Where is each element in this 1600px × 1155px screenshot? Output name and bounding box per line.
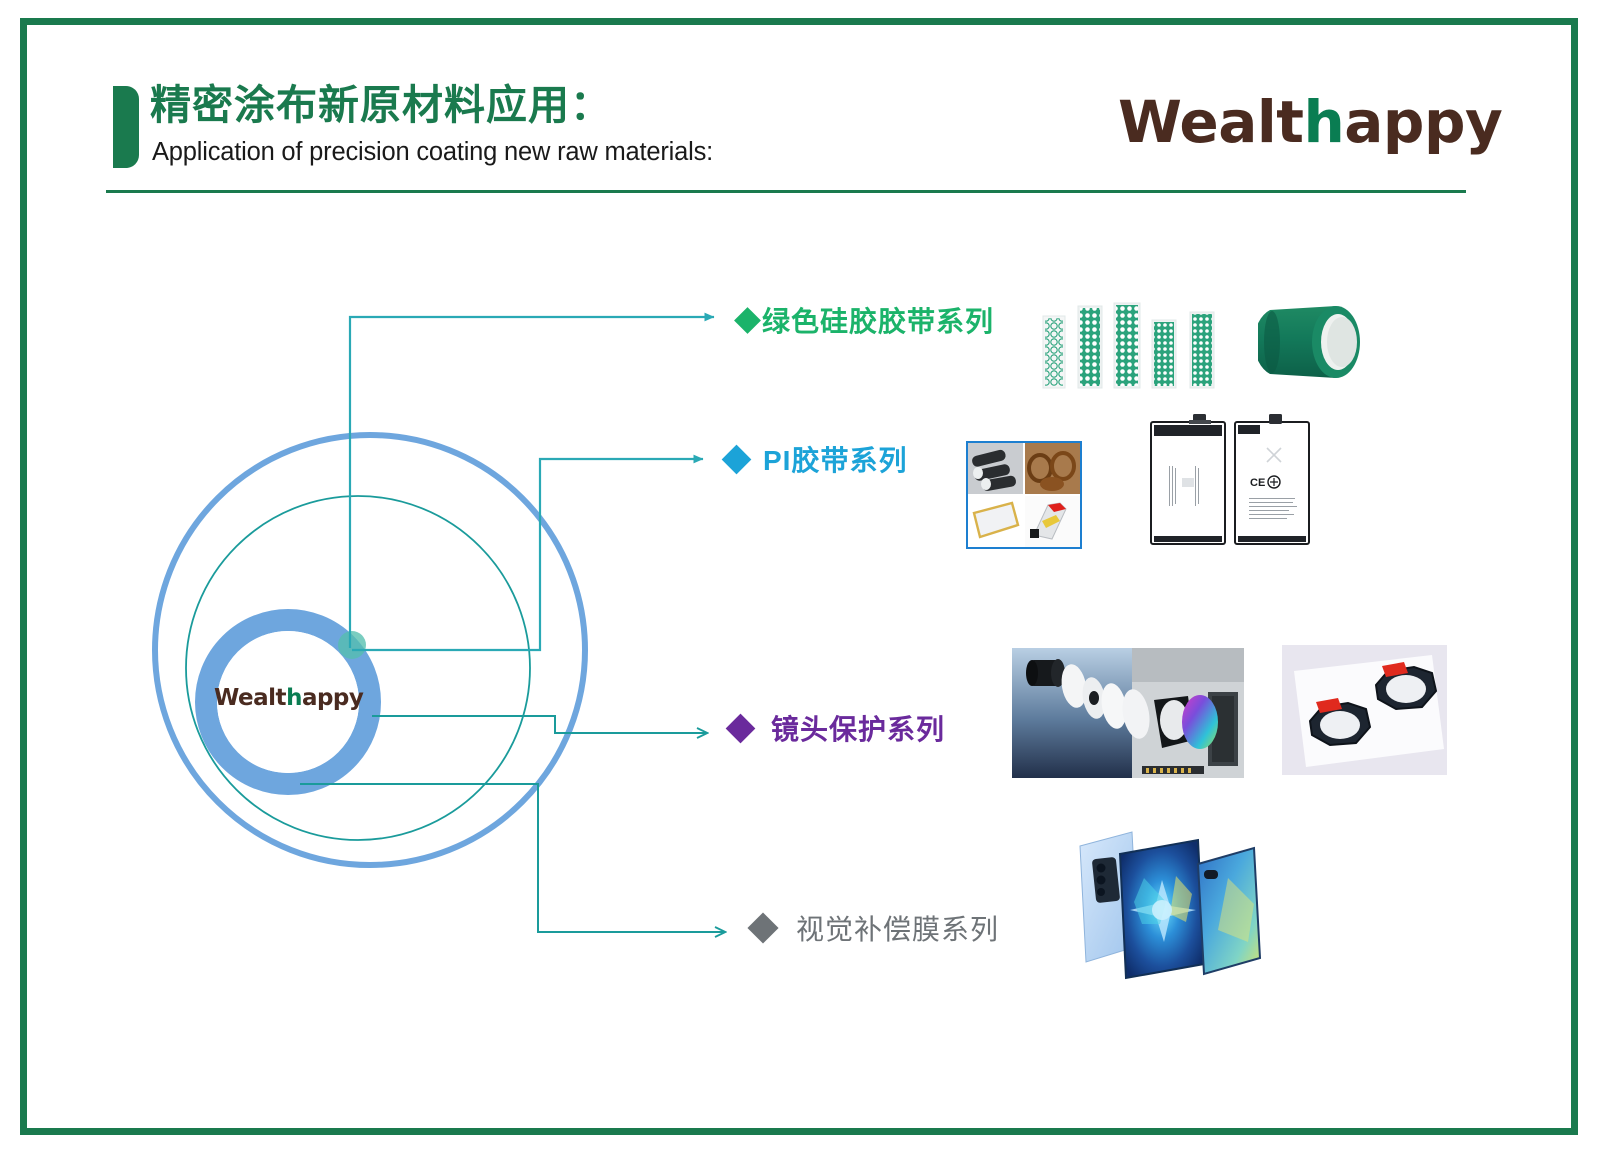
diamond-marker-icon <box>726 713 756 743</box>
battery-pack-photos: CE <box>1149 410 1311 548</box>
category-text: 镜头保护系列 <box>771 708 945 748</box>
connector-line-green-silicone-tape <box>350 317 714 648</box>
connector-line-visual-compensation-film <box>300 784 725 932</box>
diamond-marker-icon <box>747 912 778 943</box>
svg-text:CE: CE <box>1250 477 1265 489</box>
center-logo-highlight: h <box>286 685 302 711</box>
category-label-green-silicone-tape[interactable]: 绿色硅胶胶带系列 <box>738 300 994 340</box>
category-text: 视觉补偿膜系列 <box>796 908 999 948</box>
connector-junction-dot <box>338 631 366 659</box>
diamond-marker-icon <box>722 444 752 474</box>
foldable-phone-photo <box>1058 818 1283 983</box>
pi-tape-photo-grid <box>966 441 1082 549</box>
connector-line-pi-tape <box>352 459 703 650</box>
diagram-center-brand-logo: Wealthappy <box>214 685 363 711</box>
category-label-lens-protection[interactable]: 镜头保护系列 <box>730 708 945 748</box>
category-label-pi-tape[interactable]: PI胶带系列 <box>726 439 907 479</box>
concentric-circle-diagram <box>0 0 1600 1155</box>
center-logo-part1: Wealt <box>214 685 286 711</box>
category-label-visual-compensation-film[interactable]: 视觉补偿膜系列 <box>752 908 999 948</box>
connector-line-lens-protection <box>372 716 707 733</box>
lens-rings-tray-photo <box>1282 645 1447 775</box>
category-text: 绿色硅胶胶带系列 <box>762 300 994 340</box>
camera-module-exploded-photo <box>1012 648 1244 778</box>
category-text: PI胶带系列 <box>763 439 907 479</box>
green-silicone-tape-strip-photos <box>1042 298 1224 390</box>
center-logo-part2: appy <box>302 685 363 711</box>
diamond-marker-icon <box>734 307 761 334</box>
slide-root: 精密涂布新原材料应用： Application of precision coa… <box>0 0 1600 1155</box>
green-silicone-tape-roll-photo <box>1258 296 1378 388</box>
